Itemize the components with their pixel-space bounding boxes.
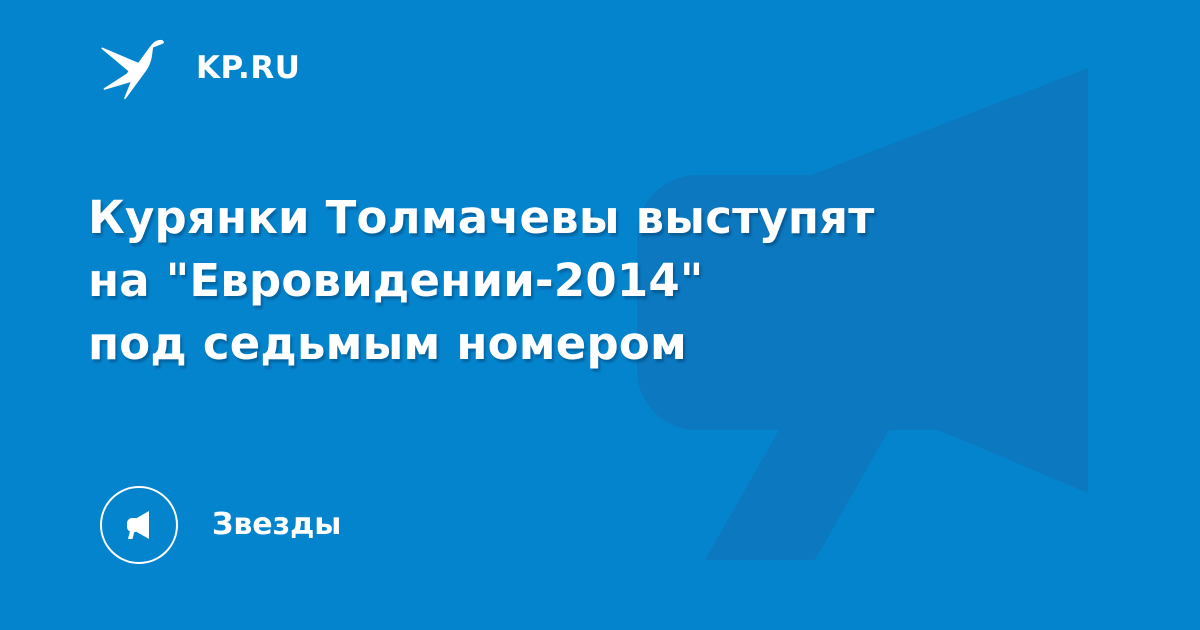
headline-line-2: на "Евровидении-2014" <box>88 249 988 312</box>
headline-line-1: Курянки Толмачевы выступят <box>88 186 988 249</box>
category-badge[interactable]: Звезды <box>100 486 341 564</box>
megaphone-icon <box>119 505 159 545</box>
brand-header[interactable]: KP.RU <box>100 36 300 100</box>
page-title: Курянки Толмачевы выступят на "Евровиден… <box>88 186 988 375</box>
article-share-card: KP.RU Курянки Толмачевы выступят на "Евр… <box>0 0 1200 630</box>
headline-line-3: под седьмым номером <box>88 312 988 375</box>
category-icon-circle <box>100 486 178 564</box>
category-label: Звезды <box>212 510 341 540</box>
brand-name: KP.RU <box>196 53 300 84</box>
swallow-bird-icon <box>100 36 174 100</box>
